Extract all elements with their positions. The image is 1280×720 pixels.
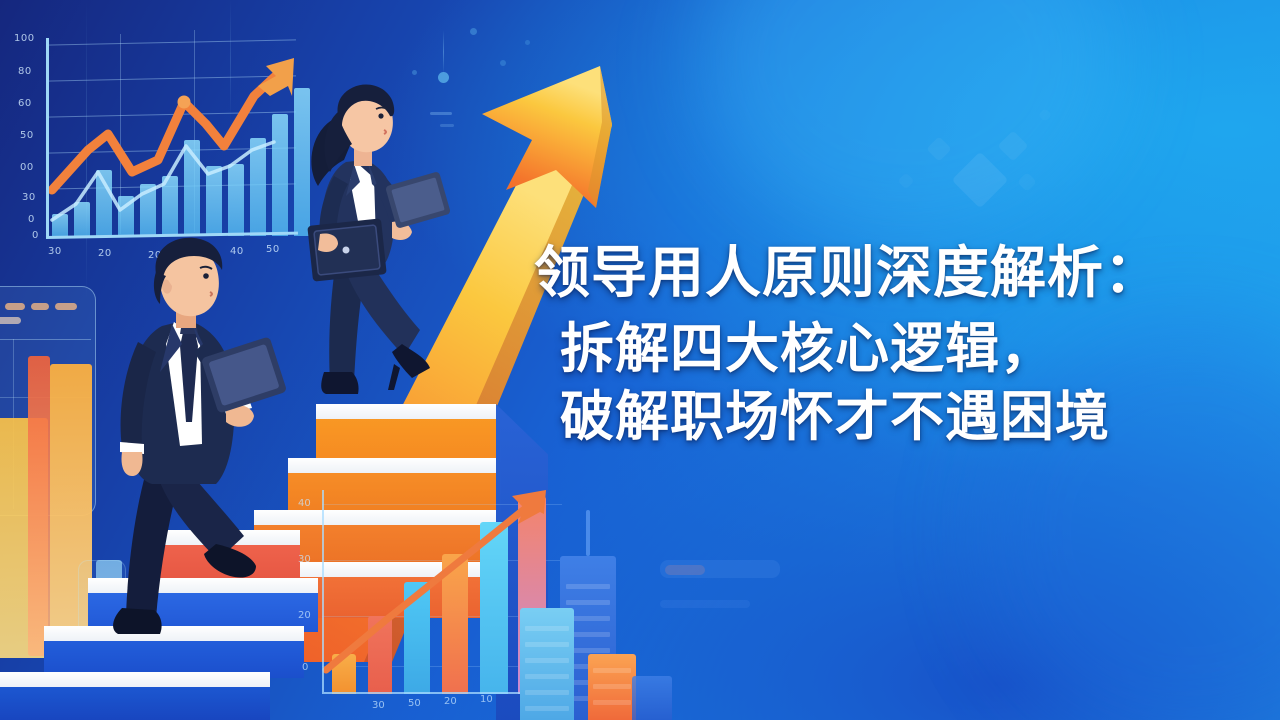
x-tick-label: 50 bbox=[408, 698, 421, 709]
panel-pill bbox=[0, 317, 21, 324]
x-tick-label: 30 bbox=[48, 246, 62, 257]
shoe-front bbox=[204, 544, 256, 578]
x-tick-label: 30 bbox=[372, 700, 385, 711]
stair-step bbox=[316, 404, 496, 464]
cyan-tower bbox=[520, 608, 574, 720]
headline-line-1: 领导用人原则深度解析： bbox=[534, 242, 1244, 305]
panel-pill bbox=[55, 303, 77, 310]
diamond-icon bbox=[1017, 172, 1037, 192]
background-tower bbox=[632, 676, 672, 720]
diamond-icon bbox=[1038, 108, 1052, 122]
y-tick-label: 0 bbox=[302, 662, 308, 673]
headline-line-3: 破解职场怀才不遇困境 bbox=[534, 387, 1244, 447]
hud-bar bbox=[660, 600, 750, 608]
x-tick-label: 10 bbox=[480, 694, 493, 705]
diamond-icon bbox=[952, 152, 1009, 209]
eye bbox=[378, 113, 383, 118]
network-node-dot bbox=[470, 28, 477, 35]
headline-block: 领导用人原则深度解析： 拆解四大核心逻辑， 破解职场怀才不遇困境 bbox=[534, 242, 1244, 448]
diamond-icon bbox=[926, 136, 951, 161]
window-rows bbox=[588, 654, 636, 720]
y-tick-label: 30 bbox=[22, 192, 36, 203]
decor-bar-red bbox=[28, 356, 50, 656]
y-axis bbox=[46, 38, 49, 238]
y-tick-label: 50 bbox=[20, 130, 34, 141]
window-rows bbox=[520, 608, 574, 720]
y-tick-label: 60 bbox=[18, 98, 32, 109]
businessman-figure bbox=[98, 236, 328, 656]
eye bbox=[203, 273, 209, 279]
hud-bar-accent bbox=[665, 565, 705, 575]
stair-step bbox=[0, 672, 270, 720]
panel-pill bbox=[31, 303, 49, 310]
chart-data-point bbox=[178, 96, 191, 109]
y-tick-label: 80 bbox=[18, 66, 32, 77]
poster-canvas: 100 80 60 50 00 30 0 0 30 20 20 40 50 bbox=[0, 0, 1280, 720]
diamond-icon bbox=[898, 173, 915, 190]
antenna-icon bbox=[586, 510, 590, 556]
hud-bar bbox=[660, 560, 780, 578]
y-tick-label: 100 bbox=[14, 33, 35, 44]
rising-arrow-line bbox=[326, 506, 528, 670]
panel-pill bbox=[5, 303, 25, 310]
x-tick-label: 20 bbox=[444, 696, 457, 707]
y-tick-label: 0 bbox=[28, 214, 35, 225]
y-tick-label: 0 bbox=[32, 230, 39, 241]
glow-blob-top bbox=[700, 0, 1120, 240]
orange-trend-line bbox=[52, 68, 284, 190]
orange-tower bbox=[588, 654, 636, 720]
shoe-back bbox=[113, 608, 162, 634]
diamond-icon bbox=[997, 130, 1028, 161]
y-tick-label: 00 bbox=[20, 162, 34, 173]
headline-line-2: 拆解四大核心逻辑， bbox=[534, 319, 1244, 379]
tablet-icon bbox=[385, 171, 451, 229]
shoe-heel-spike bbox=[388, 364, 400, 390]
